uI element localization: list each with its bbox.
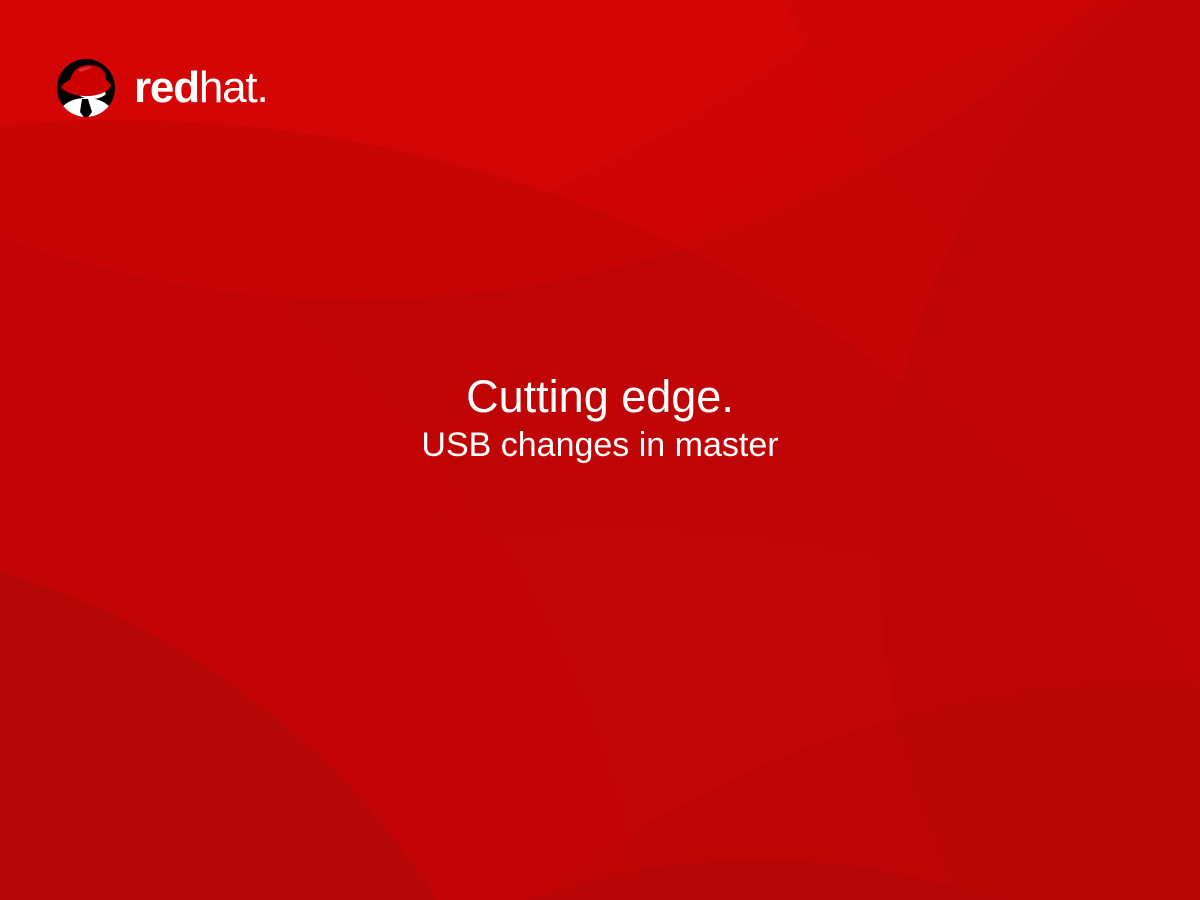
title-block: Cutting edge. USB changes in master bbox=[0, 372, 1200, 464]
shadowman-svg bbox=[48, 50, 124, 126]
wordmark-red: red bbox=[134, 63, 199, 112]
slide-subtitle: USB changes in master bbox=[0, 422, 1200, 464]
slide-title: Cutting edge. bbox=[0, 372, 1200, 422]
redhat-shadowman-icon bbox=[48, 50, 124, 126]
presentation-slide: redhat. Cutting edge. USB changes in mas… bbox=[0, 0, 1200, 900]
redhat-logo: redhat. bbox=[48, 50, 298, 126]
redhat-wordmark: redhat. bbox=[134, 64, 267, 112]
wordmark-hat: hat. bbox=[199, 63, 268, 112]
